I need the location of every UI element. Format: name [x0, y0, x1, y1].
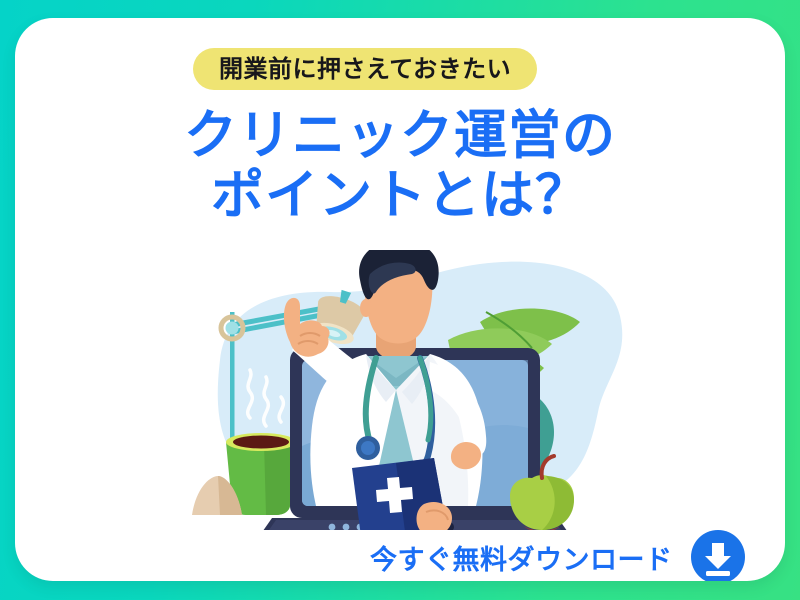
download-cta-label: 今すぐ無料ダウンロード [370, 538, 673, 577]
promo-banner: 開業前に押さえておきたい クリニック運営の ポイントとは？ [0, 0, 800, 600]
download-circle-icon[interactable] [691, 530, 745, 581]
white-card: 開業前に押さえておきたい クリニック運営の ポイントとは？ [15, 18, 785, 581]
download-cta[interactable]: 今すぐ無料ダウンロード [370, 523, 760, 581]
headline-line-1: クリニック運営の [15, 106, 785, 166]
page-title: クリニック運営の ポイントとは？ [15, 106, 785, 226]
hero-illustration [180, 250, 650, 530]
eyebrow-badge: 開業前に押さえておきたい [193, 48, 537, 90]
laptop-indicator-dots [329, 524, 364, 530]
eyebrow-badge-label: 開業前に押さえておきたい [219, 57, 511, 81]
headline-line-2: ポイントとは？ [15, 166, 785, 226]
